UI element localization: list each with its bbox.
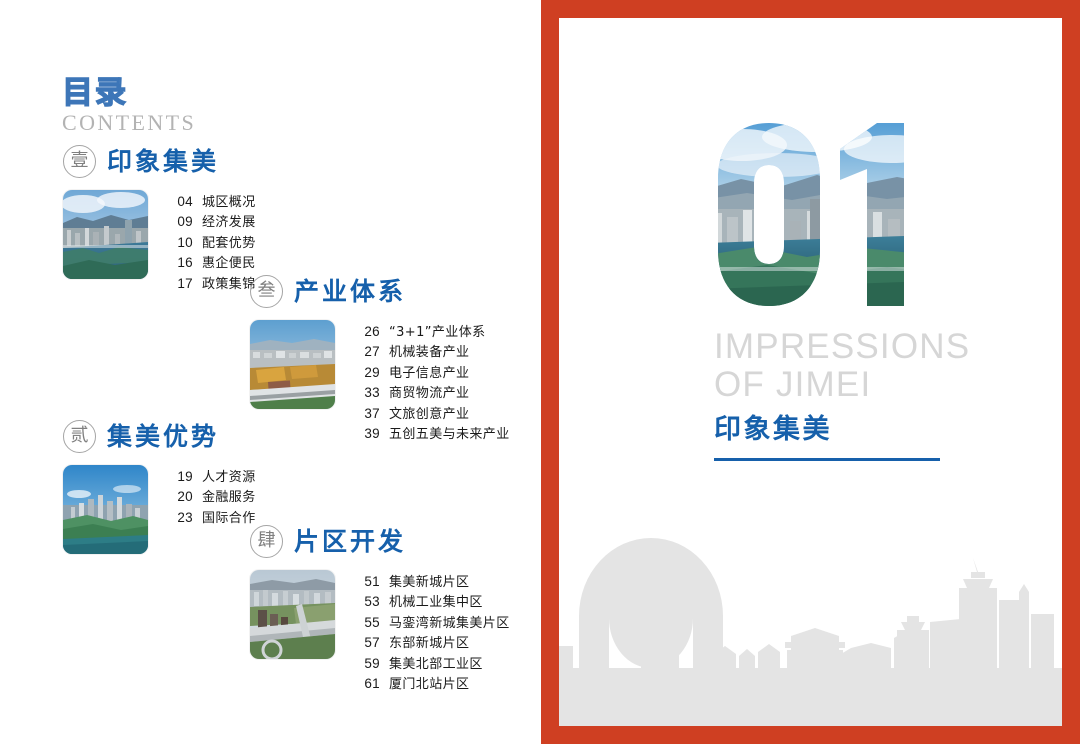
entry-label: 商贸物流产业 <box>389 384 469 403</box>
entry-page: 20 <box>172 487 193 506</box>
toc-section-3-entries: 26“3+1”产业体系 27机械装备产业 29电子信息产业 33商贸物流产业 3… <box>359 320 510 444</box>
toc-entry[interactable]: 09经济发展 <box>172 212 256 232</box>
toc-entry[interactable]: 59集美北部工业区 <box>359 654 510 674</box>
toc-section-3-header: 叁 产业体系 <box>250 272 510 310</box>
toc-section-2: 贰 集美优势 <box>63 417 256 554</box>
toc-section-4-title: 片区开发 <box>294 528 406 555</box>
section-badge-2: 贰 <box>63 420 96 453</box>
toc-section-3-body: 26“3+1”产业体系 27机械装备产业 29电子信息产业 33商贸物流产业 3… <box>250 320 510 444</box>
entry-label: 文旅创意产业 <box>389 405 469 424</box>
toc-section-1-entries: 04城区概况 09经济发展 10配套优势 16惠企便民 17政策集锦 <box>172 190 256 294</box>
entry-label: 集美新城片区 <box>389 573 469 592</box>
toc-entry[interactable]: 27机械装备产业 <box>359 342 510 362</box>
entry-label: 东部新城片区 <box>389 634 469 653</box>
entry-page: 51 <box>359 572 380 591</box>
entry-page: 57 <box>359 633 380 652</box>
toc-section-4-body: 51集美新城片区 53机械工业集中区 55马銮湾新城集美片区 57东部新城片区 … <box>250 570 510 694</box>
entry-page: 26 <box>359 322 380 341</box>
entry-page: 29 <box>359 363 380 382</box>
entry-label: 配套优势 <box>202 234 256 253</box>
toc-section-2-entries: 19人才资源 20金融服务 23国际合作 <box>172 465 256 528</box>
entry-page: 39 <box>359 424 380 443</box>
toc-section-2-title: 集美优势 <box>107 423 219 450</box>
entry-label: 惠企便民 <box>202 254 256 273</box>
entry-label: 国际合作 <box>202 509 256 528</box>
entry-label: “3+1”产业体系 <box>389 323 486 342</box>
entry-label: 马銮湾新城集美片区 <box>389 614 510 633</box>
entry-page: 55 <box>359 613 380 632</box>
thumb-industrial-zone-aerial <box>250 320 335 409</box>
entry-label: 经济发展 <box>202 213 256 232</box>
brochure-spread: 目录 CONTENTS 壹 印象集美 <box>0 0 1080 744</box>
toc-section-1: 壹 印象集美 <box>63 142 256 294</box>
contents-heading-en: CONTENTS <box>62 111 262 135</box>
contents-header: 目录 CONTENTS <box>62 76 262 135</box>
chapter-divider-page: IMPRESSIONS OF JIMEI 印象集美 <box>541 0 1080 744</box>
toc-section-2-body: 19人才资源 20金融服务 23国际合作 <box>63 465 256 554</box>
toc-entry[interactable]: 19人才资源 <box>172 467 256 487</box>
entry-label: 人才资源 <box>202 468 256 487</box>
toc-entry[interactable]: 26“3+1”产业体系 <box>359 322 510 342</box>
entry-label: 机械工业集中区 <box>389 593 483 612</box>
toc-entry[interactable]: 16惠企便民 <box>172 253 256 273</box>
toc-entry[interactable]: 29电子信息产业 <box>359 363 510 383</box>
entry-label: 城区概况 <box>202 193 256 212</box>
entry-label: 机械装备产业 <box>389 343 469 362</box>
entry-page: 53 <box>359 592 380 611</box>
entry-label: 政策集锦 <box>202 275 256 294</box>
entry-page: 23 <box>172 508 193 527</box>
toc-section-4-header: 肆 片区开发 <box>250 522 510 560</box>
section-badge-4: 肆 <box>250 525 283 558</box>
toc-entry[interactable]: 37文旅创意产业 <box>359 404 510 424</box>
toc-entry[interactable]: 23国际合作 <box>172 508 256 528</box>
entry-label: 电子信息产业 <box>389 364 469 383</box>
city-skyline-silhouette <box>559 496 1062 726</box>
toc-section-1-header: 壹 印象集美 <box>63 142 256 180</box>
entry-label: 五创五美与未来产业 <box>389 425 510 444</box>
toc-entry[interactable]: 61厦门北站片区 <box>359 674 510 694</box>
chapter-title-en-line1: IMPRESSIONS <box>714 328 970 366</box>
entry-page: 61 <box>359 674 380 693</box>
entry-page: 10 <box>172 233 193 252</box>
entry-page: 27 <box>359 342 380 361</box>
toc-entry[interactable]: 10配套优势 <box>172 233 256 253</box>
toc-entry[interactable]: 51集美新城片区 <box>359 572 510 592</box>
toc-entry[interactable]: 55马銮湾新城集美片区 <box>359 613 510 633</box>
toc-section-1-body: 04城区概况 09经济发展 10配套优势 16惠企便民 17政策集锦 <box>63 190 256 294</box>
entry-label: 金融服务 <box>202 488 256 507</box>
toc-entry[interactable]: 57东部新城片区 <box>359 633 510 653</box>
thumb-skyline-island-aerial <box>63 465 148 554</box>
entry-label: 厦门北站片区 <box>389 675 469 694</box>
entry-page: 16 <box>172 253 193 272</box>
entry-page: 09 <box>172 212 193 231</box>
thumb-new-district-highway-aerial <box>250 570 335 659</box>
toc-section-4-entries: 51集美新城片区 53机械工业集中区 55马銮湾新城集美片区 57东部新城片区 … <box>359 570 510 694</box>
thumb-city-lake-aerial <box>63 190 148 279</box>
toc-entry[interactable]: 17政策集锦 <box>172 274 256 294</box>
entry-page: 37 <box>359 404 380 423</box>
entry-page: 17 <box>172 274 193 293</box>
toc-entry[interactable]: 39五创五美与未来产业 <box>359 424 510 444</box>
entry-page: 04 <box>172 192 193 211</box>
entry-page: 19 <box>172 467 193 486</box>
toc-section-3: 叁 产业体系 <box>250 272 510 444</box>
chapter-title-en-line2: OF JIMEI <box>714 366 970 404</box>
toc-section-1-title: 印象集美 <box>107 148 219 175</box>
entry-page: 59 <box>359 654 380 673</box>
toc-section-4: 肆 片区开发 <box>250 522 510 694</box>
chapter-divider-inner: IMPRESSIONS OF JIMEI 印象集美 <box>559 18 1062 726</box>
contents-page: 目录 CONTENTS 壹 印象集美 <box>0 0 541 744</box>
chapter-title-block: IMPRESSIONS OF JIMEI 印象集美 <box>714 328 970 461</box>
chapter-title-underline <box>714 458 940 461</box>
toc-entry[interactable]: 20金融服务 <box>172 487 256 507</box>
toc-entry[interactable]: 33商贸物流产业 <box>359 383 510 403</box>
toc-section-2-header: 贰 集美优势 <box>63 417 256 455</box>
chapter-number-photo <box>707 117 932 312</box>
toc-entry[interactable]: 04城区概况 <box>172 192 256 212</box>
entry-page: 33 <box>359 383 380 402</box>
section-badge-3: 叁 <box>250 275 283 308</box>
contents-heading-cn: 目录 <box>62 76 262 110</box>
chapter-title-cn: 印象集美 <box>714 415 970 445</box>
toc-section-3-title: 产业体系 <box>294 278 406 305</box>
section-badge-1: 壹 <box>63 145 96 178</box>
entry-label: 集美北部工业区 <box>389 655 483 674</box>
toc-entry[interactable]: 53机械工业集中区 <box>359 592 510 612</box>
